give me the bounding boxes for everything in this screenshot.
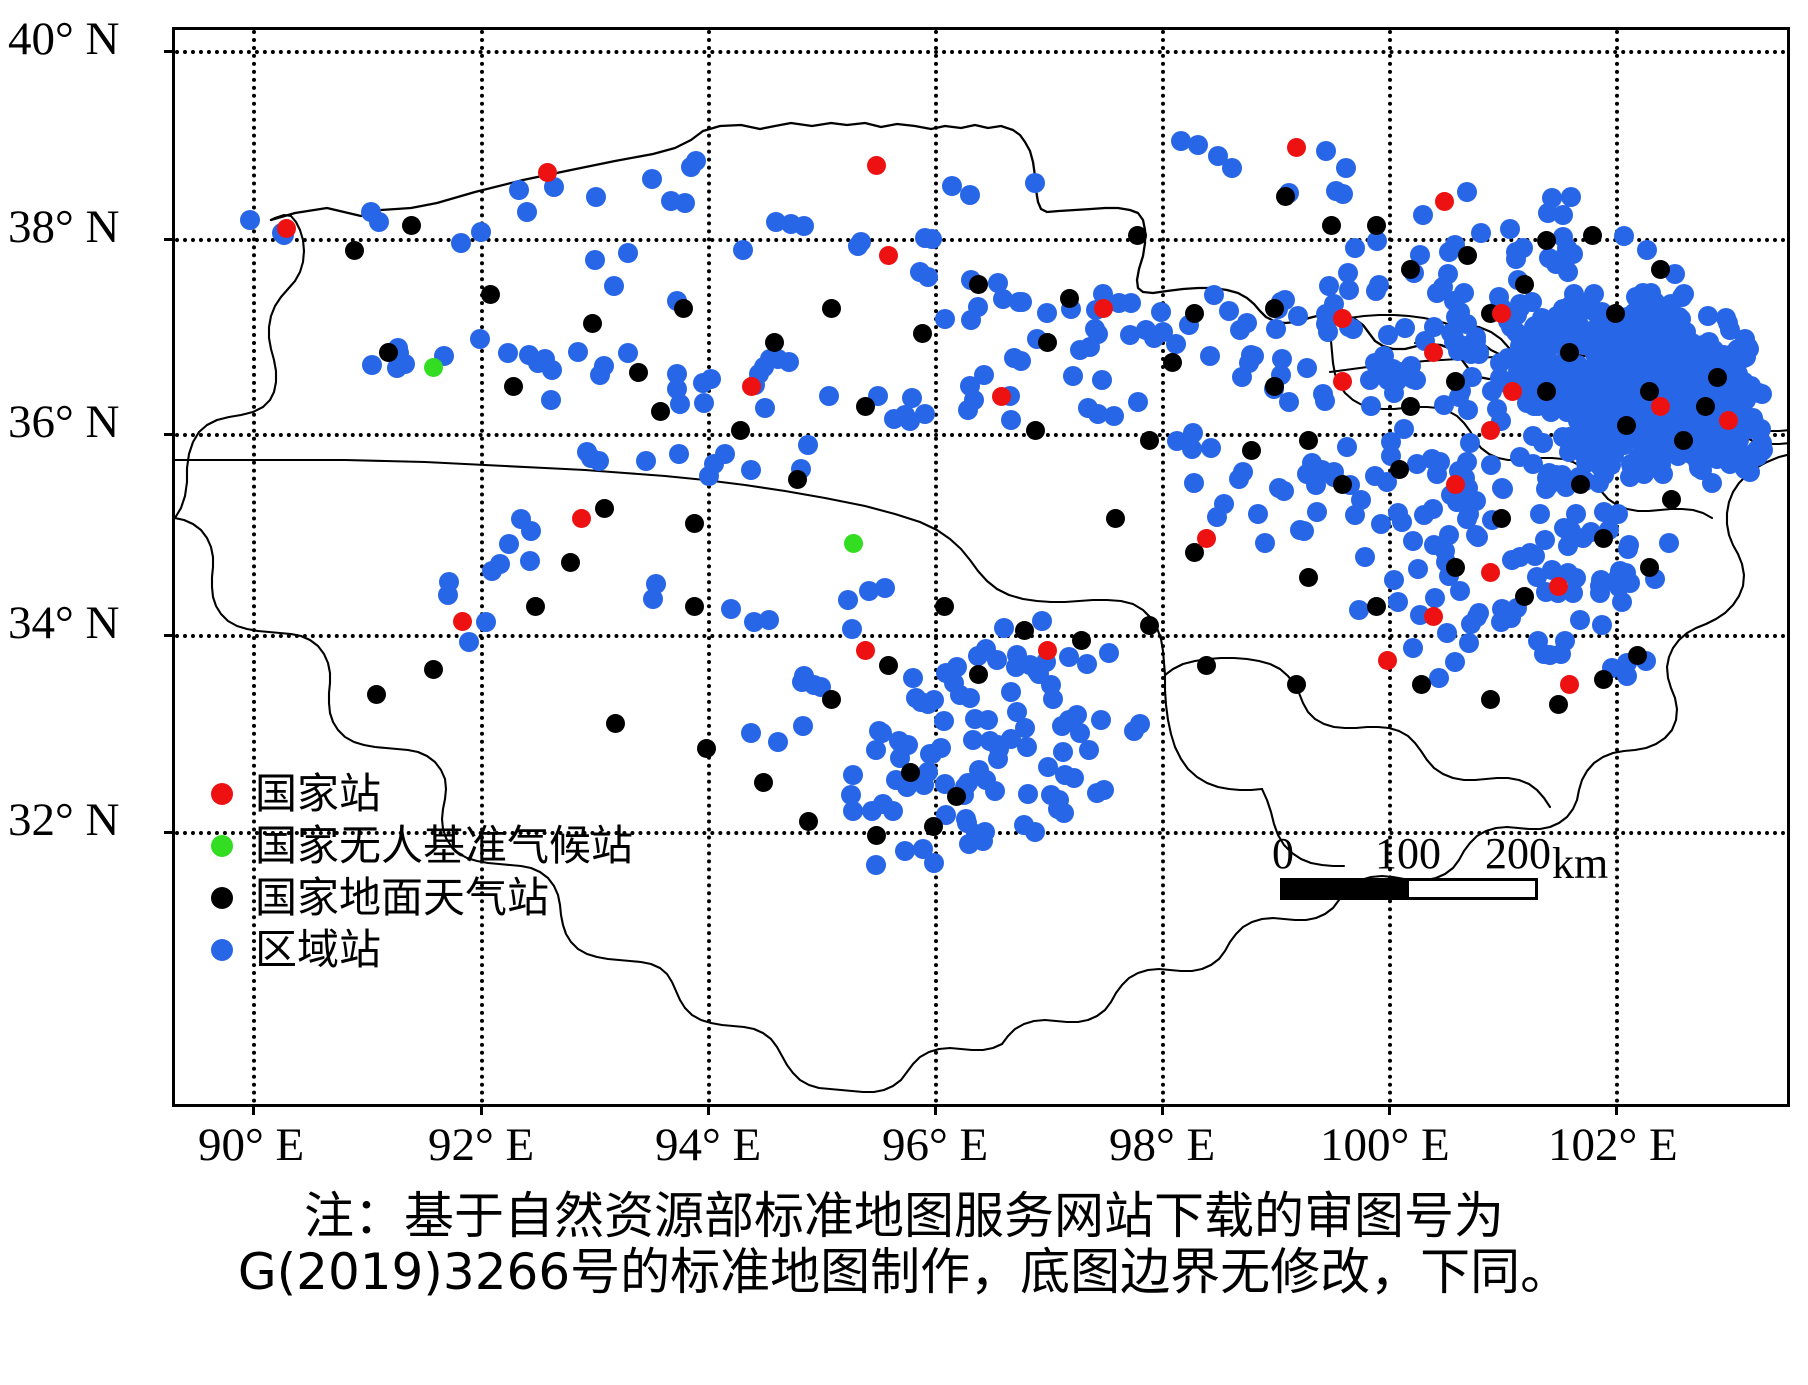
scale-segment-filled	[1283, 881, 1409, 897]
station-dot	[1265, 377, 1284, 396]
station-dot	[1001, 410, 1021, 430]
station-dot	[402, 216, 421, 235]
station-dot	[1266, 319, 1286, 339]
station-dot	[842, 619, 862, 639]
station-dot	[879, 246, 898, 265]
station-dot	[1651, 260, 1670, 279]
station-dot	[741, 723, 761, 743]
station-dot	[1662, 490, 1681, 509]
legend-marker-unmanned-climate-station	[211, 835, 233, 857]
station-dot	[1458, 246, 1477, 265]
station-dot	[424, 358, 443, 377]
y-tick-label: 32° N	[8, 797, 120, 844]
station-dot	[470, 329, 490, 349]
station-dot	[1388, 503, 1408, 523]
station-dot	[1628, 646, 1647, 665]
x-axis-tick	[252, 1104, 255, 1115]
station-dot	[1151, 302, 1171, 322]
station-dot	[987, 650, 1007, 670]
y-tick-label: 38° N	[8, 204, 120, 251]
station-dot	[1450, 581, 1470, 601]
station-dot	[963, 730, 983, 750]
station-dot	[1140, 431, 1159, 450]
station-dot	[651, 402, 670, 421]
station-dot	[968, 646, 988, 666]
station-dot	[1403, 531, 1423, 551]
x-axis-tick	[934, 1104, 937, 1115]
station-dot	[1242, 441, 1261, 460]
station-dot	[1053, 742, 1073, 762]
scale-bar-labels: 0 100 200	[1280, 832, 1540, 878]
x-tick-label: 96° E	[882, 1122, 988, 1169]
station-dot	[1549, 695, 1568, 714]
legend-label: 国家无人基准气候站	[255, 825, 633, 867]
station-dot	[277, 219, 296, 238]
station-dot	[1345, 238, 1365, 258]
station-dot	[733, 240, 753, 260]
station-dot	[1059, 647, 1079, 667]
x-tick-label: 90° E	[198, 1122, 304, 1169]
station-dot	[1429, 668, 1449, 688]
x-axis-tick	[1615, 1104, 1618, 1115]
station-dot	[1001, 682, 1021, 702]
x-tick-label: 92° E	[428, 1122, 534, 1169]
legend: 国家站 国家无人基准气候站 国家地面天气站 区域站	[211, 768, 633, 976]
station-dot	[1481, 421, 1500, 440]
station-dot	[561, 553, 580, 572]
legend-marker-surface-weather-station	[211, 887, 233, 909]
station-dot	[985, 781, 1005, 801]
station-dot	[1390, 460, 1409, 479]
station-dot	[1588, 321, 1608, 341]
legend-label: 国家地面天气站	[255, 877, 549, 919]
station-dot	[345, 241, 364, 260]
station-dot	[1498, 348, 1518, 368]
station-dot	[1698, 306, 1718, 326]
station-dot	[1401, 397, 1420, 416]
station-dot	[1413, 205, 1433, 225]
station-dot	[1438, 264, 1458, 284]
station-dot	[1299, 568, 1318, 587]
station-dot	[1533, 433, 1553, 453]
station-dot	[476, 612, 496, 632]
station-dot	[1378, 651, 1397, 670]
station-dot	[1534, 644, 1554, 664]
station-dot	[1038, 333, 1057, 352]
station-dot	[1018, 784, 1038, 804]
station-dot	[924, 817, 943, 836]
legend-item[interactable]: 国家站	[211, 768, 633, 820]
map-plot-area: 国家站 国家无人基准气候站 国家地面天气站 区域站 0 100 200	[172, 27, 1790, 1107]
station-dot	[1481, 563, 1500, 582]
station-dot	[1566, 568, 1586, 588]
station-dot	[1414, 505, 1434, 525]
station-dot	[1094, 780, 1114, 800]
station-dot	[1017, 737, 1037, 757]
station-dot	[1553, 205, 1573, 225]
station-dot	[1424, 343, 1443, 362]
station-dot	[1288, 306, 1308, 326]
station-dot	[754, 773, 773, 792]
station-dot	[822, 299, 841, 318]
station-dot	[844, 534, 863, 553]
station-dot	[585, 250, 605, 270]
x-tick-label: 94° E	[655, 1122, 761, 1169]
station-dot	[1077, 654, 1097, 674]
station-dot	[799, 812, 818, 831]
station-dot	[1265, 299, 1284, 318]
legend-marker-national-station	[211, 783, 233, 805]
station-dot	[731, 421, 750, 440]
station-dot	[1555, 631, 1575, 651]
station-dot	[915, 404, 935, 424]
station-dot	[538, 163, 557, 182]
station-dot	[1664, 324, 1684, 344]
station-dot	[975, 822, 995, 842]
station-dot	[1633, 283, 1653, 303]
station-dot	[1197, 656, 1216, 675]
station-dot	[867, 156, 886, 175]
station-dot	[1708, 368, 1727, 387]
scale-segment-empty	[1409, 881, 1535, 897]
y-axis-tick	[164, 238, 175, 241]
station-dot	[1583, 226, 1602, 245]
station-dot	[1197, 529, 1216, 548]
station-dot	[792, 672, 812, 692]
station-dot	[1315, 391, 1335, 411]
station-dot	[1255, 533, 1275, 553]
station-dot	[947, 787, 966, 806]
station-dot	[1204, 285, 1224, 305]
station-dot	[875, 578, 895, 598]
scale-tick-label: 0	[1272, 832, 1294, 876]
station-dot	[1322, 216, 1341, 235]
station-dot	[866, 855, 886, 875]
station-dot	[1515, 587, 1534, 606]
station-dot	[1025, 822, 1045, 842]
station-dot	[1614, 435, 1634, 455]
station-dot	[1481, 690, 1500, 709]
station-dot	[361, 202, 381, 222]
station-dot	[960, 688, 980, 708]
station-dot	[1525, 546, 1545, 566]
station-dot	[517, 202, 537, 222]
x-axis-tick	[480, 1104, 483, 1115]
station-dot	[1592, 376, 1612, 396]
station-dot	[1500, 219, 1520, 239]
legend-item[interactable]: 国家无人基准气候站	[211, 820, 633, 872]
station-dot	[1188, 135, 1208, 155]
station-dot	[509, 180, 529, 200]
station-dot	[922, 229, 942, 249]
station-dot	[1326, 181, 1346, 201]
scale-bar-graphic	[1280, 878, 1538, 900]
y-tick-label: 40° N	[8, 16, 120, 63]
station-dot	[822, 690, 841, 709]
station-dot	[520, 551, 540, 571]
legend-item[interactable]: 区域站	[211, 924, 633, 976]
station-dot	[583, 314, 602, 333]
y-axis-tick	[164, 433, 175, 436]
station-dot	[686, 151, 706, 171]
station-dot	[1732, 340, 1752, 360]
station-dot	[1333, 475, 1352, 494]
station-dot	[1439, 525, 1459, 545]
station-dot	[572, 509, 591, 528]
station-dot	[873, 794, 893, 814]
station-dot	[1570, 437, 1590, 457]
station-dot	[694, 393, 714, 413]
station-dot	[1279, 392, 1299, 412]
station-dot	[504, 377, 523, 396]
y-axis-tick	[164, 634, 175, 637]
station-dot	[1319, 276, 1339, 296]
station-dot	[1276, 187, 1295, 206]
station-dot	[1072, 631, 1091, 650]
station-dot	[1064, 768, 1084, 788]
y-tick-label: 36° N	[8, 399, 120, 446]
station-dot	[1610, 561, 1630, 581]
station-dot	[1674, 284, 1694, 304]
station-dot	[1367, 597, 1386, 616]
legend-item[interactable]: 国家地面天气站	[211, 872, 633, 924]
scale-bar: 0 100 200 km	[1280, 832, 1540, 900]
station-dot	[856, 641, 875, 660]
station-dot	[1598, 345, 1618, 365]
station-dot	[1606, 304, 1625, 323]
station-dot	[1589, 422, 1609, 442]
station-dot	[978, 710, 998, 730]
station-dot	[1492, 509, 1511, 528]
station-dot	[1395, 318, 1415, 338]
x-tick-label: 100° E	[1320, 1122, 1450, 1169]
station-dot	[759, 610, 779, 630]
station-dot	[1491, 612, 1511, 632]
station-dot	[1337, 437, 1357, 457]
station-dot	[453, 612, 472, 631]
station-dot	[856, 397, 875, 416]
station-dot	[1274, 481, 1294, 501]
station-dot	[934, 711, 954, 731]
station-dot	[1720, 454, 1740, 474]
scale-unit-label: km	[1552, 842, 1608, 886]
station-dot	[481, 285, 500, 304]
caption-line-2: G(2019)3266号的标准地图制作，底图边界无修改，下同。	[0, 1244, 1808, 1300]
station-dot	[754, 357, 774, 377]
station-dot	[1492, 304, 1511, 323]
station-dot	[924, 690, 944, 710]
station-dot	[869, 721, 889, 741]
station-dot	[961, 310, 981, 330]
figure-caption: 注：基于自然资源部标准地图服务网站下载的审图号为 G(2019)3266号的标准…	[0, 1188, 1808, 1300]
station-dot	[1640, 558, 1659, 577]
station-dot	[924, 853, 944, 873]
station-dot	[1099, 643, 1119, 663]
station-dot	[1594, 529, 1613, 548]
station-dot	[1038, 641, 1057, 660]
station-dot	[629, 363, 648, 382]
station-dot	[1460, 433, 1480, 453]
station-dot	[1171, 131, 1191, 151]
station-dot	[1091, 710, 1111, 730]
station-dot	[1219, 301, 1239, 321]
x-tick-label: 102° E	[1548, 1122, 1678, 1169]
station-dot	[1459, 633, 1479, 653]
station-dot	[1561, 187, 1581, 207]
station-dot	[1466, 327, 1486, 347]
station-dot	[1659, 533, 1679, 553]
station-dot	[1407, 454, 1427, 474]
station-dot	[1437, 623, 1457, 643]
station-dot	[667, 379, 687, 399]
station-dot	[755, 398, 775, 418]
station-dot	[1524, 317, 1544, 337]
station-dot	[1041, 785, 1061, 805]
station-dot	[913, 324, 932, 343]
station-dot	[1063, 366, 1083, 386]
station-dot	[994, 618, 1014, 638]
station-dot	[1651, 397, 1670, 416]
station-dot	[1406, 370, 1426, 390]
x-tick-label: 98° E	[1109, 1122, 1215, 1169]
station-dot	[766, 212, 786, 232]
station-dot	[741, 460, 761, 480]
station-dot	[699, 466, 719, 486]
station-dot	[1184, 473, 1204, 493]
station-dot	[240, 210, 260, 230]
station-dot	[1011, 351, 1031, 371]
station-dot	[1557, 316, 1577, 336]
station-dot	[1461, 614, 1481, 634]
station-dot	[843, 765, 863, 785]
station-dot	[1037, 303, 1057, 323]
station-dot	[1434, 395, 1454, 415]
station-dot	[920, 744, 940, 764]
station-dot	[1207, 507, 1227, 527]
station-dot	[1166, 334, 1186, 354]
station-dot	[988, 273, 1008, 293]
y-tick-label: 34° N	[8, 600, 120, 647]
x-axis-tick	[707, 1104, 710, 1115]
station-dot	[595, 499, 614, 518]
station-dot	[918, 267, 938, 287]
station-dot	[879, 656, 898, 675]
scale-tick-label: 200	[1485, 832, 1551, 876]
station-dot	[604, 276, 624, 296]
station-dot	[1560, 675, 1579, 694]
station-dot	[903, 668, 923, 688]
station-dot	[1360, 370, 1380, 390]
x-axis-tick	[1388, 1104, 1391, 1115]
station-dot	[1092, 370, 1112, 390]
station-dot	[721, 599, 741, 619]
station-dot	[1012, 292, 1032, 312]
station-dot	[1644, 445, 1664, 465]
station-dot	[568, 342, 588, 362]
legend-label: 区域站	[255, 929, 381, 971]
station-dot	[697, 739, 716, 758]
station-dot	[1052, 716, 1072, 736]
station-dot	[1201, 438, 1221, 458]
station-dot	[1080, 337, 1100, 357]
station-dot	[1448, 341, 1468, 361]
station-dot	[1408, 559, 1428, 579]
station-dot	[618, 343, 638, 363]
station-dot	[1424, 607, 1443, 626]
station-dot	[1349, 600, 1369, 620]
scale-tick-label: 100	[1375, 832, 1441, 876]
station-dot	[1299, 431, 1318, 450]
station-dot	[1302, 453, 1322, 473]
station-dot	[1614, 226, 1634, 246]
station-dot	[1006, 657, 1026, 677]
station-dot	[379, 343, 398, 362]
station-dot	[1515, 275, 1534, 294]
station-dot	[1506, 249, 1526, 269]
station-dot	[1636, 301, 1656, 321]
station-dot	[1388, 592, 1408, 612]
station-dot	[1124, 721, 1144, 741]
station-dot	[606, 714, 625, 733]
station-dot	[1355, 547, 1375, 567]
station-dot	[1427, 464, 1447, 484]
station-dot	[1457, 509, 1477, 529]
station-dot	[438, 585, 458, 605]
station-dot	[1163, 353, 1182, 372]
station-dot	[1106, 509, 1125, 528]
legend-label: 国家站	[255, 773, 381, 815]
station-dot	[586, 187, 606, 207]
station-dot	[1674, 431, 1693, 450]
legend-marker-regional-station	[211, 939, 233, 961]
station-dot	[788, 470, 807, 489]
station-dot	[1333, 309, 1352, 328]
y-axis-tick	[164, 50, 175, 53]
station-dot	[541, 390, 561, 410]
station-dot	[1104, 406, 1124, 426]
station-dot	[794, 216, 814, 236]
x-axis-tick	[1161, 1104, 1164, 1115]
station-dot	[499, 534, 519, 554]
station-dot	[1435, 192, 1454, 211]
station-dot	[1121, 293, 1141, 313]
station-dot	[1700, 427, 1720, 447]
y-axis-tick	[164, 831, 175, 834]
caption-line-1: 注：基于自然资源部标准地图服务网站下载的审图号为	[0, 1188, 1808, 1244]
station-dot	[1521, 343, 1541, 363]
